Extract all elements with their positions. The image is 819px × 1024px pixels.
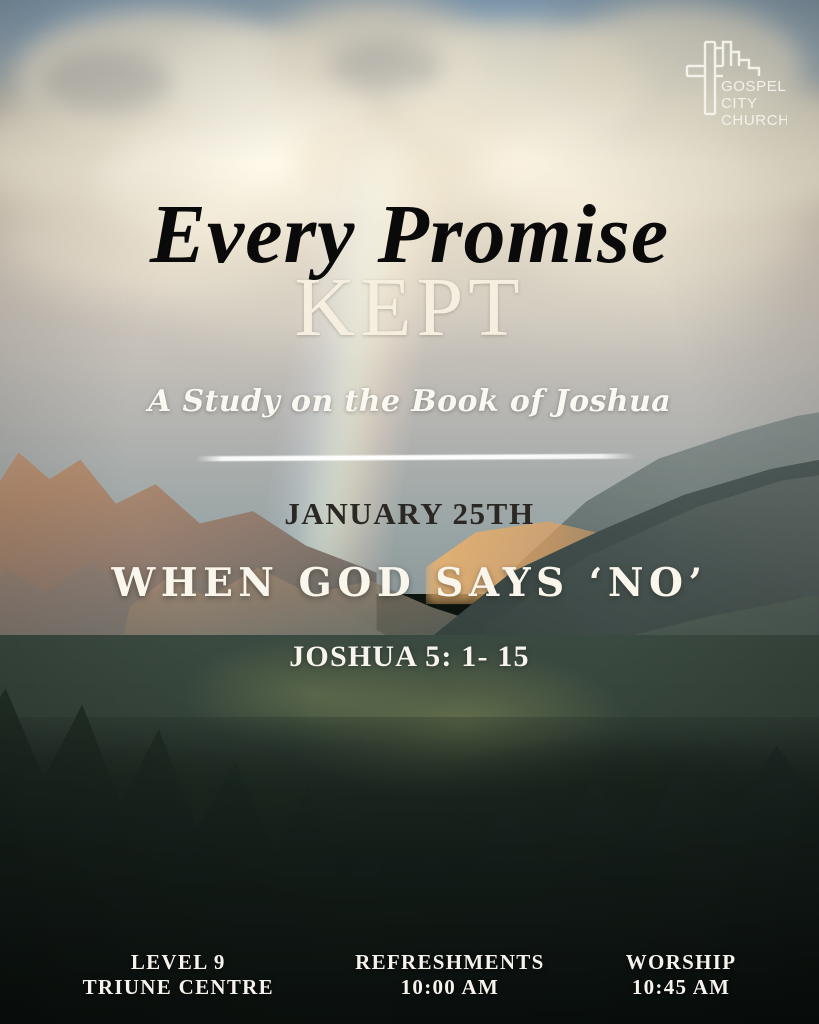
footer-worship-line1: WORSHIP [626,950,737,974]
logo-line-2: CITY [721,95,758,112]
footer: LEVEL 9 TRIUNE CENTRE REFRESHMENTS 10:00… [0,950,819,1000]
sermon-title: WHEN GOD SAYS ‘NO’ [0,560,819,606]
series-title-kept: KEPT [0,269,819,346]
event-date: JANUARY 25TH [0,496,819,532]
title-block: Every Promise KEPT [0,196,819,346]
cross-with-city-skyline-icon: GOSPEL CITY CHURCH [683,36,787,132]
footer-location: LEVEL 9 TRIUNE CENTRE [83,950,274,1000]
footer-location-line2: TRIUNE CENTRE [83,975,274,1000]
gospel-city-church-logo[interactable]: GOSPEL CITY CHURCH [683,36,787,132]
footer-location-line1: LEVEL 9 [131,950,226,974]
footer-refreshments-time: 10:00 AM [355,975,544,1000]
footer-worship: WORSHIP 10:45 AM [626,950,737,1000]
scripture-reference: JOSHUA 5: 1- 15 [0,640,819,674]
poster-content: GOSPEL CITY CHURCH Every Promise KEPT A … [0,0,819,1024]
sermon-poster: GOSPEL CITY CHURCH Every Promise KEPT A … [0,0,819,1024]
logo-line-1: GOSPEL [721,78,786,95]
series-subtitle: A Study on the Book of Joshua [0,384,819,419]
footer-refreshments-line1: REFRESHMENTS [355,950,544,974]
footer-worship-time: 10:45 AM [626,975,737,1000]
white-divider-line [196,454,636,462]
footer-refreshments: REFRESHMENTS 10:00 AM [355,950,544,1000]
logo-line-3: CHURCH [721,112,787,129]
